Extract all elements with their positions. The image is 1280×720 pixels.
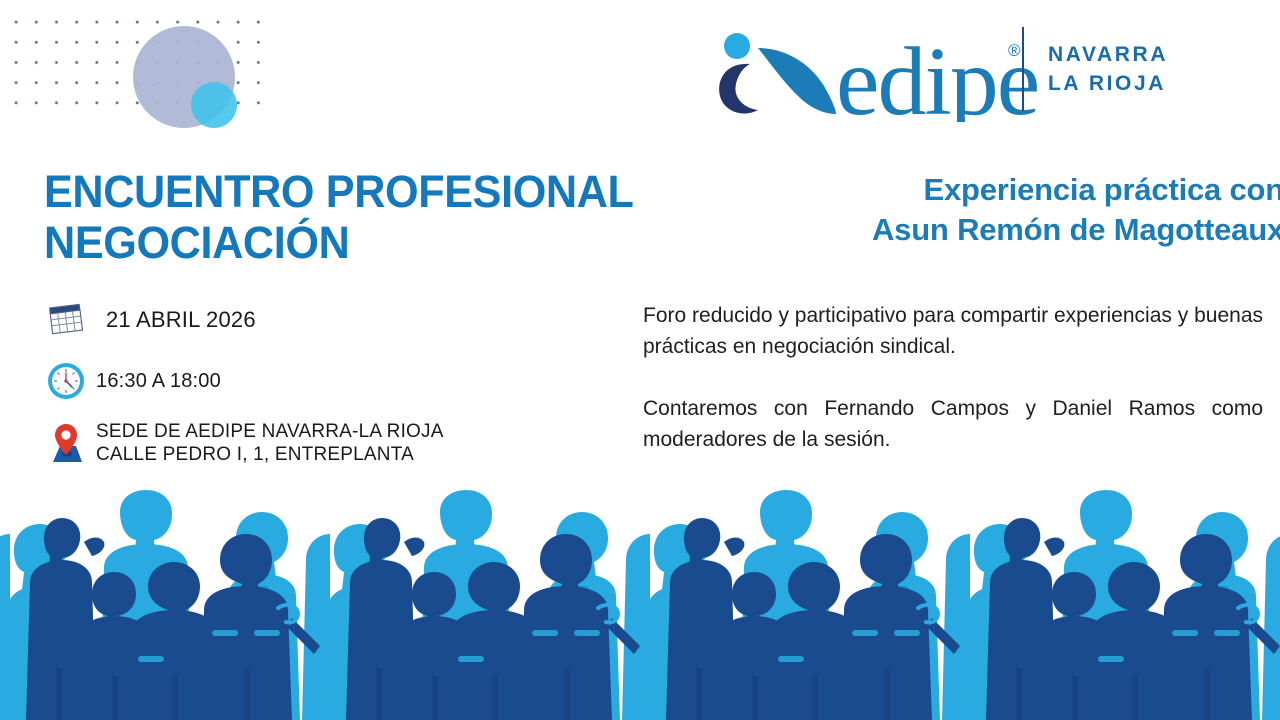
subtitle-line-2: Asun Remón de Magotteaux [700, 210, 1280, 250]
body-paragraph-2: Contaremos con Fernando Campos y Daniel … [643, 393, 1263, 455]
page-title: ENCUENTRO PROFESIONAL NEGOCIACIÓN [44, 166, 658, 268]
decorative-circle-small [191, 82, 237, 128]
subtitle: Experiencia práctica con Asun Remón de M… [700, 170, 1280, 250]
poster-canvas: edipe ® NAVARRA LA RIOJA ENCUENTRO PROFE… [0, 0, 1280, 720]
subtitle-line-1: Experiencia práctica con [700, 170, 1280, 210]
event-details: 21 ABRIL 2026 [46, 296, 476, 466]
body-paragraph-1: Foro reducido y participativo para compa… [643, 300, 1263, 362]
logo-dot [724, 33, 750, 59]
detail-row-location: SEDE DE AEDIPE NAVARRA-LA RIOJA CALLE PE… [46, 420, 476, 466]
detail-text-location: SEDE DE AEDIPE NAVARRA-LA RIOJA CALLE PE… [96, 420, 444, 466]
detail-row-time: 16:30 A 18:00 [46, 358, 476, 404]
title-line-1: ENCUENTRO PROFESIONAL [44, 166, 658, 217]
body-copy: Foro reducido y participativo para compa… [643, 300, 1263, 455]
logo-region-line2: LA RIOJA [1048, 69, 1168, 98]
logo-trademark: ® [1008, 41, 1021, 60]
title-line-2: NEGOCIACIÓN [44, 217, 658, 268]
clock-icon [46, 361, 96, 401]
logo-crescent [719, 64, 758, 114]
logo-region-text: NAVARRA LA RIOJA [1048, 40, 1168, 98]
detail-row-date: 21 ABRIL 2026 [46, 296, 476, 342]
detail-text-time: 16:30 A 18:00 [96, 369, 221, 394]
logo-region-line1: NAVARRA [1048, 40, 1168, 69]
calendar-icon [46, 300, 96, 338]
map-pin-icon [46, 420, 96, 466]
detail-text-date: 21 ABRIL 2026 [96, 307, 256, 332]
logo-divider [1022, 27, 1024, 111]
logo-leaf [758, 48, 836, 114]
crowd-of-people-illustration [0, 490, 1280, 720]
